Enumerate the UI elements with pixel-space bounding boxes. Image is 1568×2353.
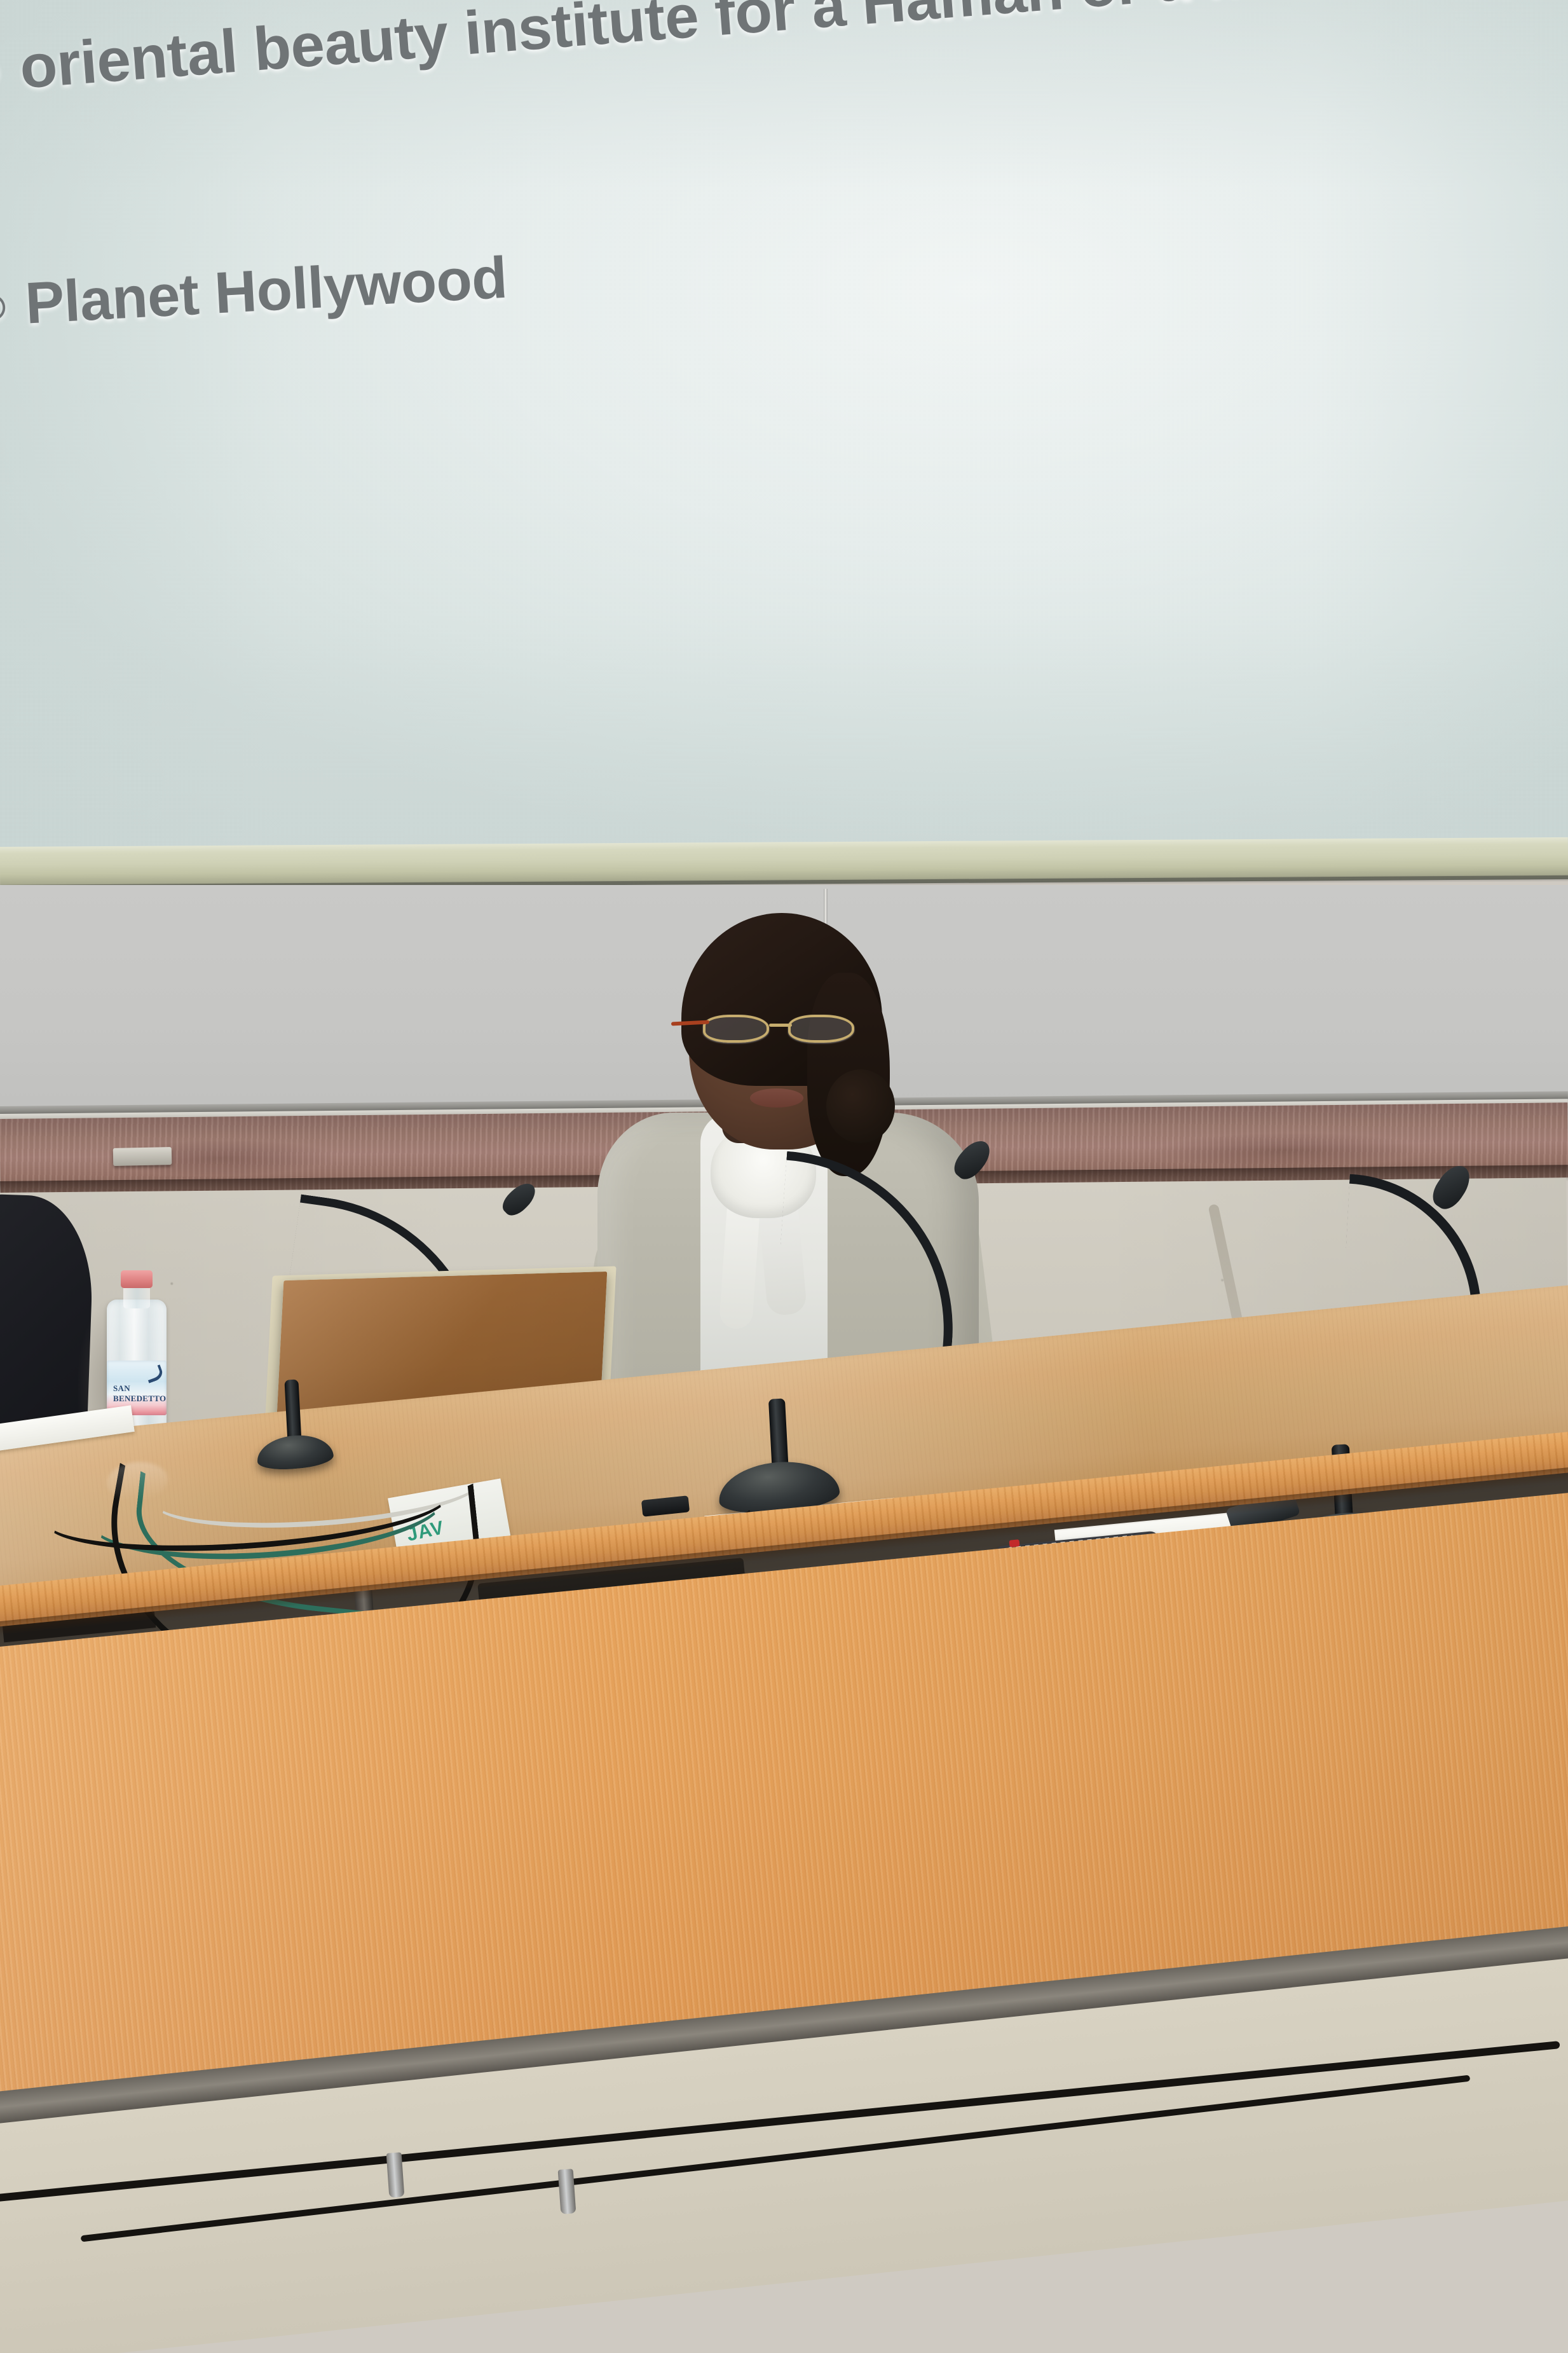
water-bottle-brand-text: SAN BENEDETTO <box>113 1383 167 1404</box>
water-bottle-cap[interactable] <box>121 1270 153 1288</box>
projection-screen-vignette <box>0 0 1568 852</box>
wall-bracket <box>113 1147 172 1166</box>
eyeglasses-right-lens <box>788 1015 854 1043</box>
speaker-mouth <box>750 1088 803 1108</box>
eyeglasses-left-lens <box>703 1015 769 1043</box>
speaker-hair-bun <box>826 1069 895 1143</box>
eyeglasses-icon <box>699 1012 869 1045</box>
desk-foot-left <box>386 2152 405 2198</box>
conference-photo-scene: ○ oriental beauty institute for a Haman … <box>0 0 1568 2353</box>
desk-foot-right <box>558 2169 576 2214</box>
water-bottle-logo-icon <box>144 1364 165 1383</box>
projection-screen: ○ oriental beauty institute for a Haman … <box>0 0 1568 852</box>
eyeglasses-bridge <box>769 1024 792 1027</box>
